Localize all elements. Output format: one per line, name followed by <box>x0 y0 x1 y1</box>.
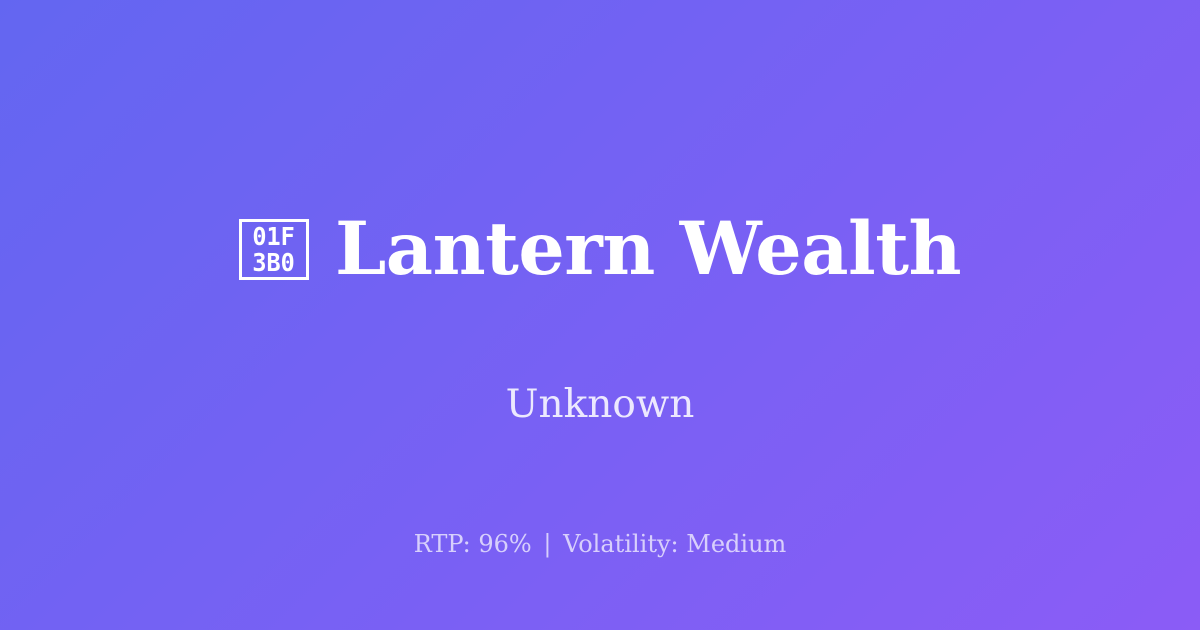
og-share-card: 01F 3B0 Lantern Wealth Unknown RTP: 96% … <box>0 0 1200 630</box>
slot-machine-emoji-icon: 01F 3B0 <box>239 219 309 280</box>
title-row: 01F 3B0 Lantern Wealth <box>239 164 961 335</box>
page-title: Lantern Wealth <box>335 213 961 286</box>
stat-separator: | <box>539 530 555 558</box>
volatility-stat: Volatility: Medium <box>563 530 786 558</box>
slot-machine-emoji-codepoint-top: 01F <box>253 224 295 250</box>
provider-subtitle: Unknown <box>506 385 695 424</box>
rtp-stat: RTP: 96% <box>414 530 532 558</box>
game-stats-footer: RTP: 96% | Volatility: Medium <box>0 532 1200 556</box>
slot-machine-emoji-codepoint-bottom: 3B0 <box>253 250 295 276</box>
